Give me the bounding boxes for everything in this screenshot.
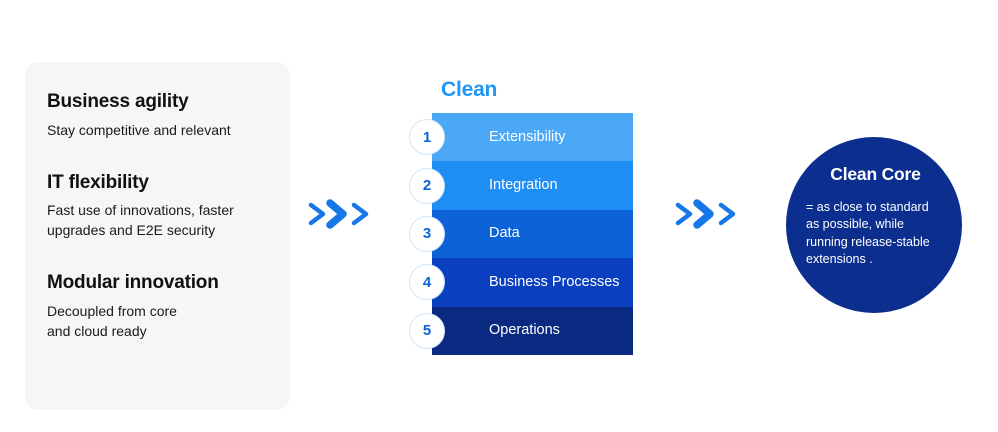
clean-stack-layers: 1 Extensibility 2 Integration 3 Data 4 B… (432, 113, 633, 355)
benefits-panel: Business agility Stay competitive and re… (25, 62, 290, 410)
stack-layer-label: Integration (432, 177, 558, 194)
clean-core-circle: Clean Core = as close to standard as pos… (786, 137, 962, 313)
benefit-item-business-agility: Business agility Stay competitive and re… (47, 90, 268, 141)
clean-core-description: = as close to standard as possible, whil… (806, 199, 930, 268)
stack-layer-number: 5 (409, 313, 445, 349)
benefit-description: Decoupled from core and cloud ready (47, 302, 268, 342)
benefit-item-modular-innovation: Modular innovation Decoupled from core a… (47, 271, 268, 342)
stack-layer-number: 1 (409, 119, 445, 155)
stack-layer-label: Extensibility (432, 129, 566, 146)
clean-stack-heading: Clean (441, 78, 497, 102)
stack-layer-label: Operations (432, 322, 560, 339)
stack-layer-number: 3 (409, 216, 445, 252)
benefit-description: Fast use of innovations, faster upgrades… (47, 201, 268, 241)
stack-layer-data[interactable]: 3 Data (432, 210, 633, 258)
benefit-item-it-flexibility: IT flexibility Fast use of innovations, … (47, 171, 268, 242)
benefit-description: Stay competitive and relevant (47, 121, 268, 141)
benefit-title: IT flexibility (47, 171, 268, 195)
stack-layer-number: 2 (409, 168, 445, 204)
stack-layer-label: Business Processes (432, 274, 620, 291)
stack-layer-business-processes[interactable]: 4 Business Processes (432, 258, 633, 306)
clean-stack-section: Clean 1 Extensibility 2 Integration 3 Da… (400, 78, 645, 368)
stack-layer-operations[interactable]: 5 Operations (432, 307, 633, 355)
stack-layer-number: 4 (409, 264, 445, 300)
clean-core-title: Clean Core (830, 164, 920, 185)
stack-layer-extensibility[interactable]: 1 Extensibility (432, 113, 633, 161)
triple-chevron-right-icon (672, 193, 744, 235)
benefit-title: Business agility (47, 90, 268, 114)
benefit-title: Modular innovation (47, 271, 268, 295)
triple-chevron-right-icon (305, 193, 377, 235)
stack-layer-label: Data (432, 225, 520, 242)
stack-layer-integration[interactable]: 2 Integration (432, 161, 633, 209)
